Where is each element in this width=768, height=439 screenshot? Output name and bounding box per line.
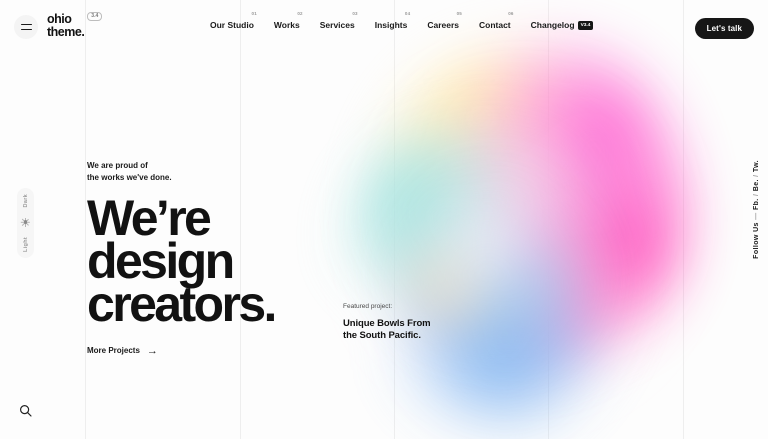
hamburger-bar-2	[21, 29, 32, 30]
featured-project-label: Featured project:	[343, 303, 431, 310]
featured-title-line-2: the South Pacific.	[343, 330, 431, 342]
grid-line-1	[85, 0, 86, 439]
grid-line-3	[394, 0, 395, 439]
nav-label-insights: Insights	[375, 20, 408, 30]
nav-label-careers: Careers	[427, 20, 459, 30]
featured-project-card[interactable]: Featured project: Unique Bowls From the …	[343, 303, 431, 342]
grid-line-5	[683, 0, 684, 439]
page-root: ohio theme. 3.4 01 Our Studio 02 Works 0…	[0, 0, 768, 439]
nav-item-our-studio[interactable]: 01 Our Studio	[210, 18, 254, 30]
follow-dash: —	[753, 212, 760, 219]
more-projects-link[interactable]: More Projects →	[87, 346, 158, 355]
featured-project-title: Unique Bowls From the South Pacific.	[343, 318, 431, 342]
theme-toggle[interactable]: Dark Light	[17, 188, 34, 258]
theme-toggle-dark-label: Dark	[23, 194, 29, 207]
gradient-artwork	[330, 40, 710, 430]
main-nav: 01 Our Studio 02 Works 03 Services 04 In…	[210, 18, 593, 30]
hamburger-icon[interactable]	[14, 15, 38, 39]
follow-sep-1: /	[753, 194, 760, 196]
nav-item-services[interactable]: 03 Services	[320, 18, 355, 30]
gradient-halo	[320, 30, 720, 439]
nav-item-careers[interactable]: 05 Careers	[427, 18, 459, 30]
nav-num-05: 05	[457, 11, 462, 16]
search-icon[interactable]	[18, 403, 34, 419]
nav-num-06: 06	[508, 11, 513, 16]
hero-eyebrow: We are proud of the works we've done.	[87, 160, 275, 183]
nav-label-changelog: Changelog	[531, 20, 575, 30]
nav-item-insights[interactable]: 04 Insights	[375, 18, 408, 30]
site-header: ohio theme. 3.4 01 Our Studio 02 Works 0…	[0, 0, 768, 53]
hero-eyebrow-line-1: We are proud of	[87, 160, 275, 172]
nav-num-01: 01	[252, 11, 257, 16]
hamburger-bar-1	[21, 24, 32, 25]
nav-label-works: Works	[274, 20, 300, 30]
hero-section: We are proud of the works we've done. We…	[87, 160, 275, 358]
page-title: We’re design creators.	[87, 197, 275, 326]
logo-line-2: theme.	[47, 26, 84, 39]
nav-label-contact: Contact	[479, 20, 511, 30]
social-link-be[interactable]: Be.	[753, 179, 760, 191]
grid-line-4	[548, 0, 549, 439]
nav-item-changelog[interactable]: Changelog V3.4	[531, 18, 594, 30]
logo[interactable]: ohio theme. 3.4	[47, 13, 102, 38]
theme-toggle-light-label: Light	[23, 237, 29, 252]
more-projects-label: More Projects	[87, 346, 140, 355]
follow-us-rail: Follow Us — Fb. / Be. / Tw.	[753, 160, 760, 259]
logo-version-badge: 3.4	[87, 12, 102, 21]
nav-num-02: 02	[297, 11, 302, 16]
nav-num-03: 03	[352, 11, 357, 16]
nav-num-04: 04	[405, 11, 410, 16]
logo-line-1: ohio	[47, 13, 84, 26]
nav-label-our-studio: Our Studio	[210, 20, 254, 30]
nav-item-works[interactable]: 02 Works	[274, 18, 300, 30]
hero-title-line-3: creators.	[87, 283, 275, 326]
nav-item-contact[interactable]: 06 Contact	[479, 18, 511, 30]
arrow-right-icon: →	[147, 347, 158, 355]
gradient-shape-secondary	[340, 120, 630, 430]
social-link-tw[interactable]: Tw.	[753, 160, 760, 172]
featured-title-line-1: Unique Bowls From	[343, 318, 431, 330]
lets-talk-button[interactable]: Let's talk	[695, 18, 754, 39]
hero-eyebrow-line-2: the works we've done.	[87, 172, 275, 184]
social-link-fb[interactable]: Fb.	[753, 198, 760, 210]
nav-label-services: Services	[320, 20, 355, 30]
follow-us-label: Follow Us	[753, 222, 760, 259]
sun-icon	[21, 218, 30, 227]
changelog-version-badge: V3.4	[578, 21, 594, 30]
